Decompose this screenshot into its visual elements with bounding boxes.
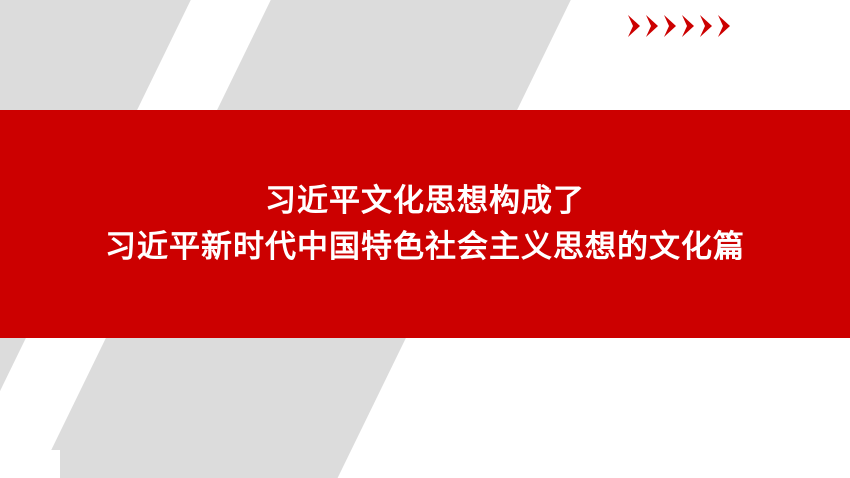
title-line-2: 习近平新时代中国特色社会主义思想的文化篇 (105, 224, 745, 271)
slide-canvas: 习近平文化思想构成了 习近平新时代中国特色社会主义思想的文化篇 (0, 0, 850, 478)
chevron-right-icon (663, 14, 678, 38)
decorative-corner-cut (0, 450, 60, 478)
title-banner: 习近平文化思想构成了 习近平新时代中国特色社会主义思想的文化篇 (0, 110, 850, 338)
chevron-right-icon (645, 14, 660, 38)
title-line-1: 习近平文化思想构成了 (265, 178, 585, 225)
chevron-right-icon (717, 14, 732, 38)
chevron-decoration-group (627, 14, 732, 38)
chevron-right-icon (699, 14, 714, 38)
chevron-right-icon (627, 14, 642, 38)
chevron-right-icon (681, 14, 696, 38)
